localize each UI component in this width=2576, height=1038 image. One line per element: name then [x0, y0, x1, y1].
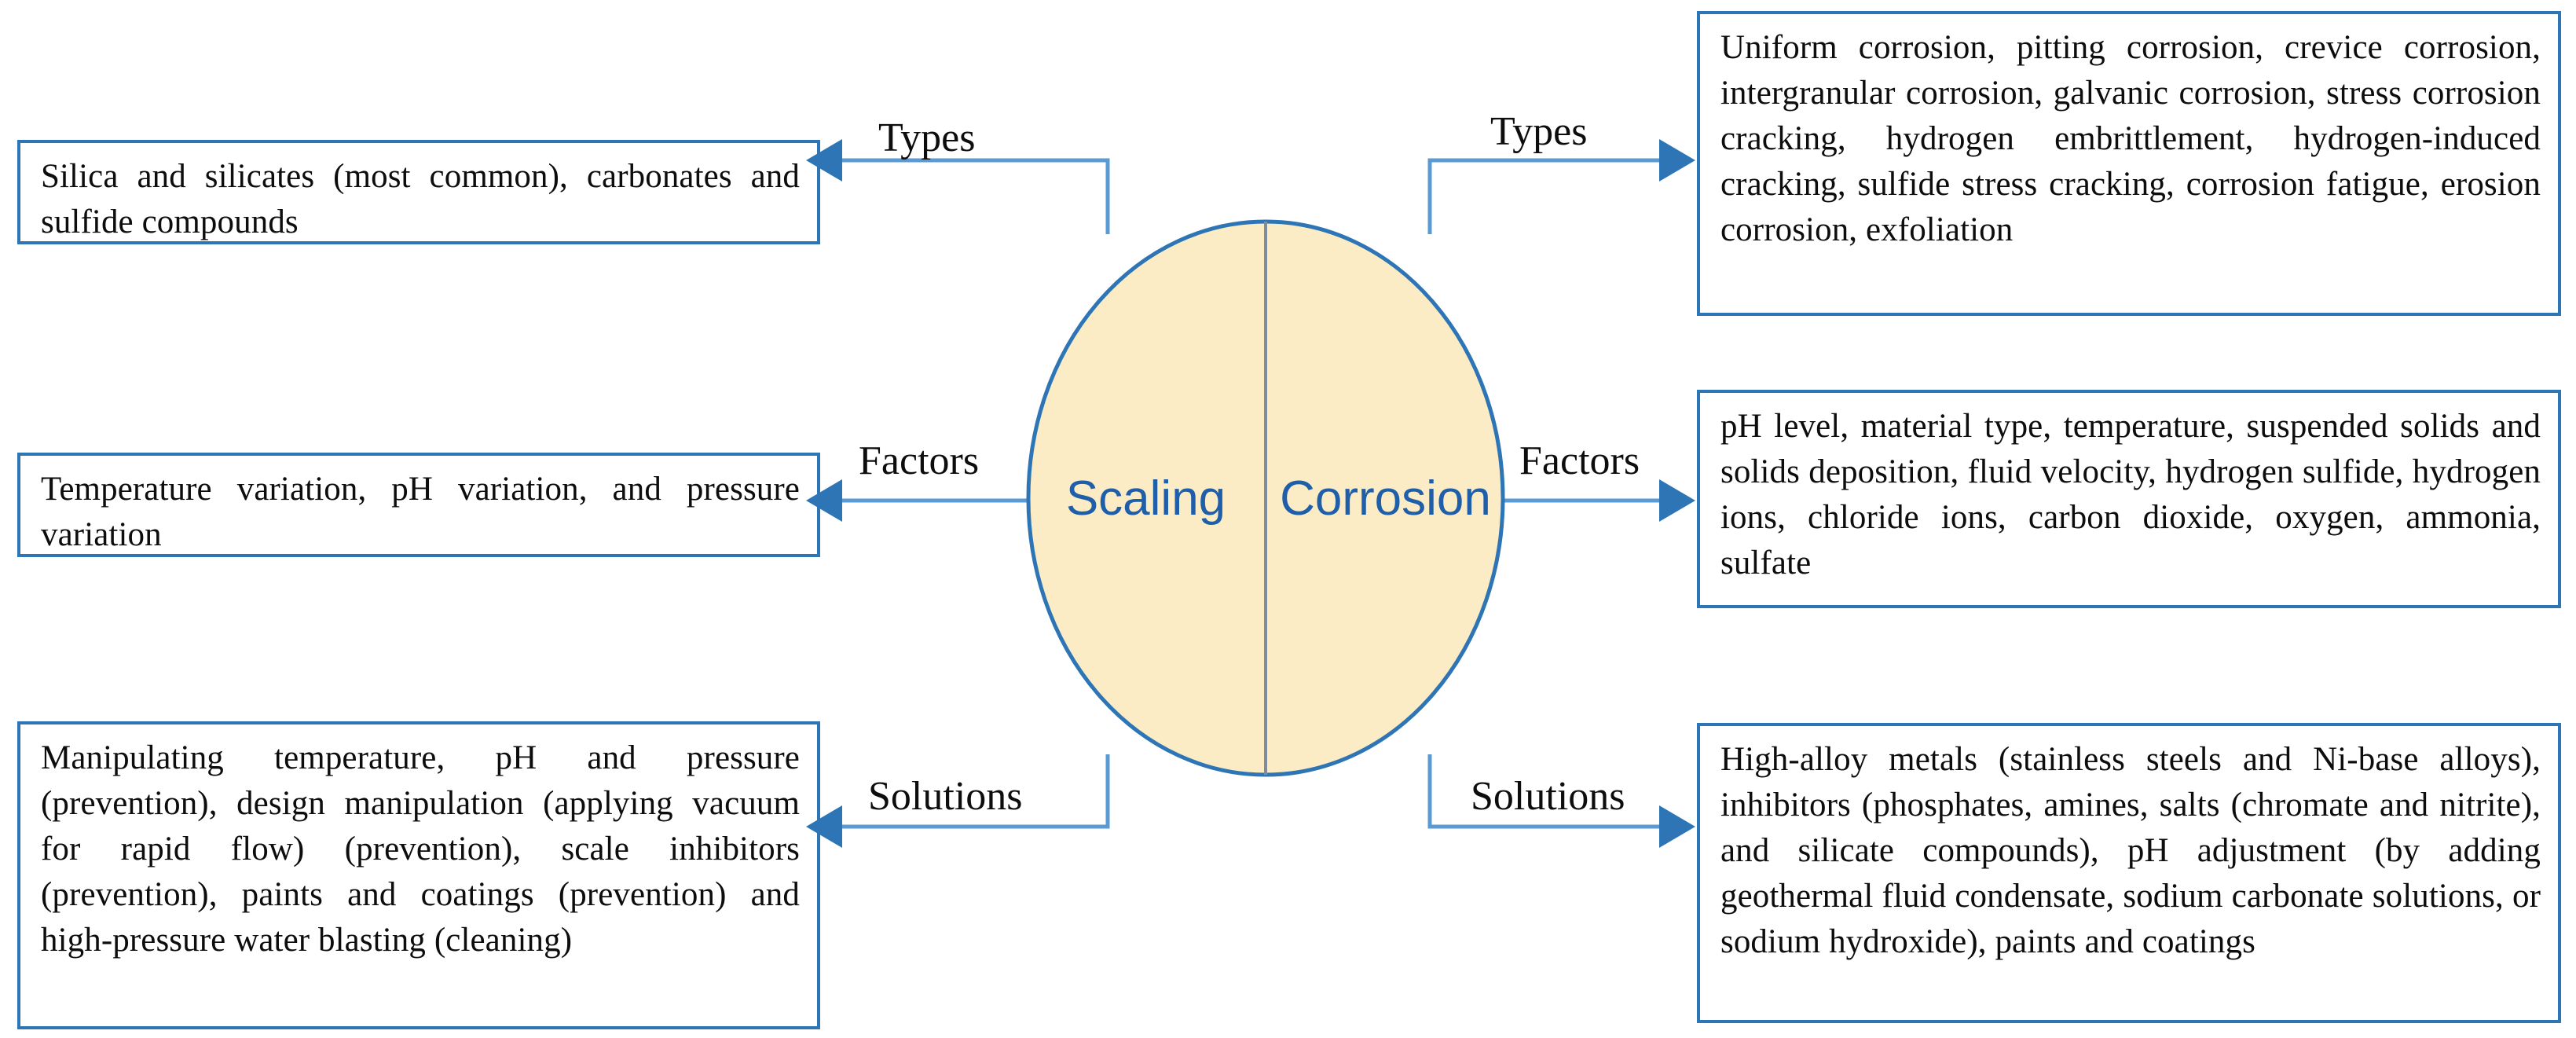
- connector-label-right-factors: Factors: [1519, 441, 1640, 482]
- connector-label-left-solutions: Solutions: [868, 776, 1023, 817]
- connector-label-right-types: Types: [1490, 112, 1587, 152]
- connector-left-factors: [806, 479, 1031, 522]
- scaling-solutions-text: Manipulating temperature, pH and pressur…: [41, 735, 800, 963]
- corrosion-solutions-box: High-alloy metals (stainless steels and …: [1697, 723, 2561, 1023]
- center-node: [1026, 219, 1505, 777]
- corrosion-types-box: Uniform corrosion, pitting corrosion, cr…: [1697, 11, 2561, 316]
- connector-label-right-solutions: Solutions: [1471, 776, 1625, 817]
- connector-right-factors: [1502, 479, 1695, 522]
- diagram-canvas: Silica and silicates (most common), carb…: [0, 0, 2576, 1038]
- scaling-types-box: Silica and silicates (most common), carb…: [17, 140, 820, 244]
- arrowhead-right-types: [1659, 139, 1695, 182]
- scaling-types-text: Silica and silicates (most common), carb…: [41, 154, 800, 245]
- arrowhead-right-factors: [1659, 479, 1695, 522]
- corrosion-factors-box: pH level, material type, temperature, su…: [1697, 390, 2561, 608]
- corrosion-factors-text: pH level, material type, temperature, su…: [1720, 404, 2541, 586]
- corrosion-types-text: Uniform corrosion, pitting corrosion, cr…: [1720, 25, 2541, 253]
- scaling-factors-text: Temperature variation, pH variation, and…: [41, 467, 800, 558]
- corrosion-solutions-text: High-alloy metals (stainless steels and …: [1720, 737, 2541, 965]
- scaling-solutions-box: Manipulating temperature, pH and pressur…: [17, 721, 820, 1029]
- arrowhead-right-solutions: [1659, 805, 1695, 848]
- connector-label-left-factors: Factors: [859, 441, 979, 482]
- scaling-factors-box: Temperature variation, pH variation, and…: [17, 453, 820, 557]
- connector-label-left-types: Types: [878, 118, 975, 159]
